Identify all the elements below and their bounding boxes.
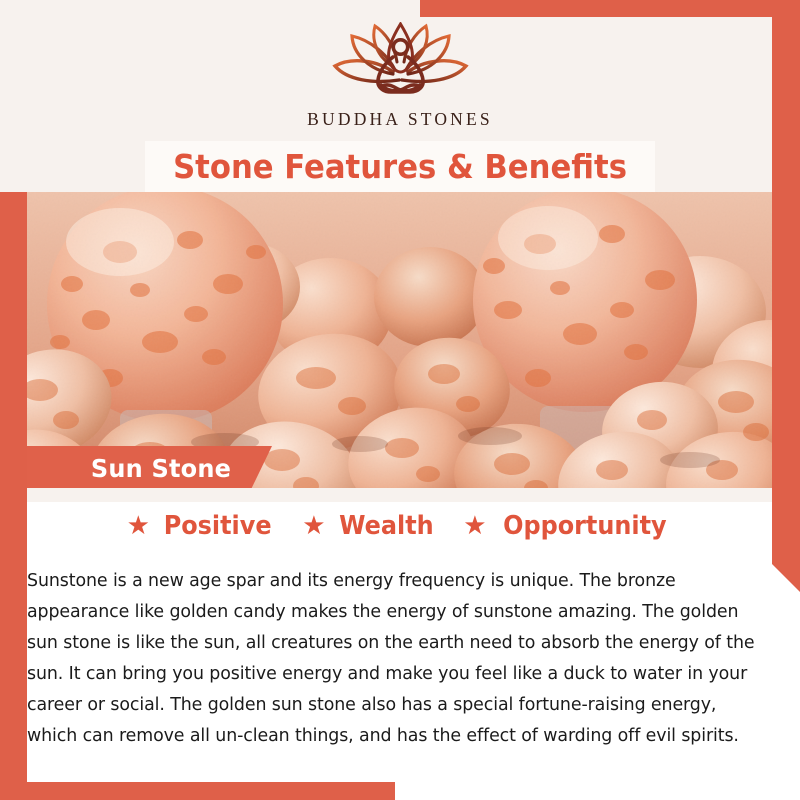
description-text: Sunstone is a new age spar and its energ…: [27, 566, 775, 752]
stone-name-label: Sun Stone: [91, 454, 231, 483]
feature-label: Wealth: [339, 511, 434, 541]
frame-accent-bottom-left: [0, 782, 395, 800]
page-title: Stone Features & Benefits: [173, 147, 627, 186]
feature-item-opportunity: ★ Opportunity: [463, 511, 673, 541]
brand-logo: BUDDHA STONES: [0, 22, 800, 130]
star-icon: ★: [463, 512, 486, 538]
stone-name-ribbon: Sun Stone: [0, 446, 272, 491]
star-icon: ★: [127, 512, 150, 538]
feature-item-positive: ★ Positive: [127, 511, 277, 541]
frame-accent-right: [772, 0, 800, 592]
feature-label: Opportunity: [503, 511, 667, 541]
frame-accent-left: [0, 192, 27, 800]
brand-name: BUDDHA STONES: [307, 109, 493, 130]
content-panel-top-strip: [27, 488, 800, 502]
star-icon: ★: [302, 512, 325, 538]
lotus-meditation-figure-icon: [313, 22, 488, 102]
frame-accent-top-right: [420, 0, 800, 17]
hero-photo: [0, 192, 800, 488]
sunstone-photo-illustration: [0, 192, 800, 488]
feature-list: ★ Positive ★ Wealth ★ Opportunity: [0, 511, 800, 541]
feature-item-wealth: ★ Wealth: [302, 511, 437, 541]
feature-label: Positive: [164, 511, 272, 541]
page-title-band: Stone Features & Benefits: [145, 141, 655, 192]
